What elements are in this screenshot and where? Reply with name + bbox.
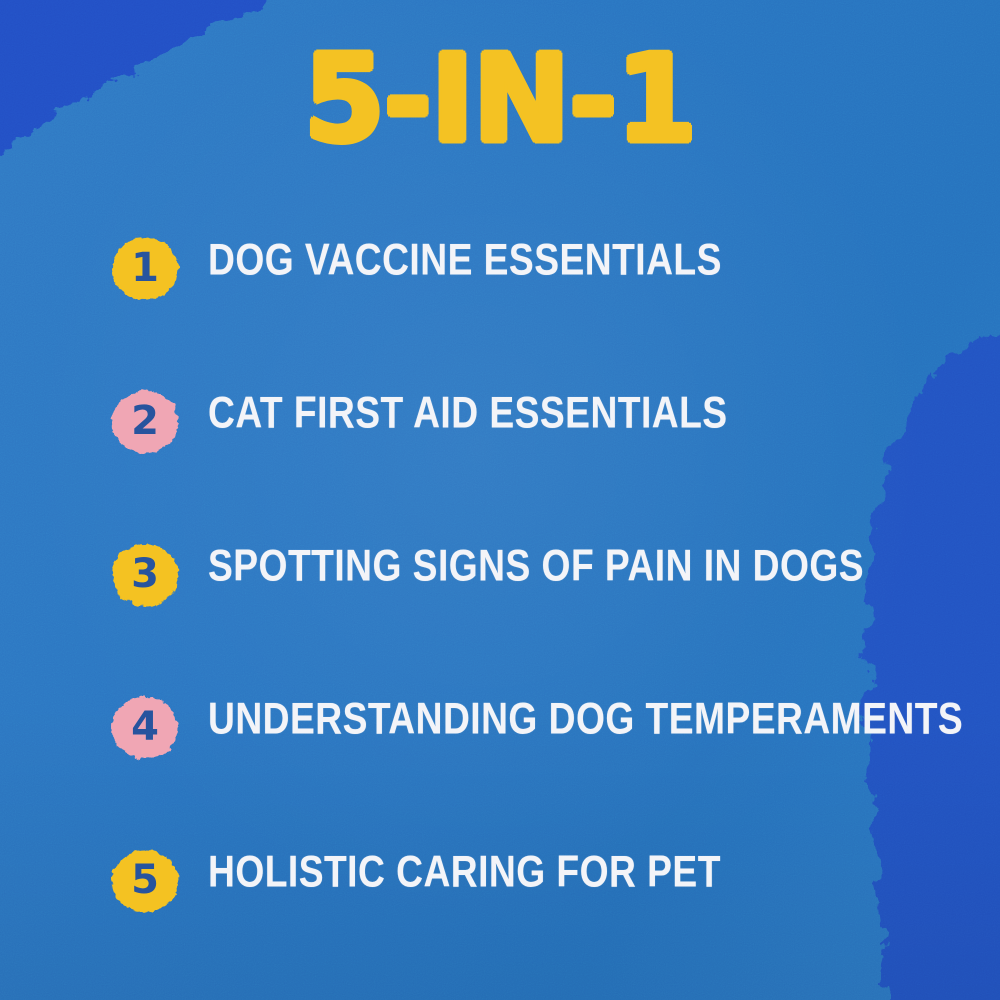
number-badge-5: 5	[108, 844, 182, 918]
number-badge-2: 2	[108, 385, 182, 459]
poster-title-area: 5-IN-1	[0, 42, 1000, 158]
poster-title: 5-IN-1	[304, 40, 696, 161]
list-item-label: CAT FIRST AID ESSENTIALS	[208, 389, 945, 437]
list-item[interactable]: 2 CAT FIRST AID ESSENTIALS	[0, 385, 1000, 538]
list-item[interactable]: 4 UNDERSTANDING DOG TEMPERAMENTS	[0, 691, 1000, 844]
list-item[interactable]: 5 HOLISTIC CARING FOR PET	[0, 844, 1000, 997]
badge-number: 3	[131, 554, 159, 594]
list-item-label: HOLISTIC CARING FOR PET	[208, 848, 945, 896]
list-item-label: DOG VACCINE ESSENTIALS	[208, 236, 945, 284]
badge-number: 2	[131, 401, 159, 441]
list-item-label: SPOTTING SIGNS OF PAIN IN DOGS	[208, 542, 945, 590]
list-item[interactable]: 1 DOG VACCINE ESSENTIALS	[0, 232, 1000, 385]
badge-number: 4	[131, 707, 159, 747]
poster-canvas: 5-IN-1 1 DOG VACCINE ESSENTIALS	[0, 0, 1000, 1000]
badge-number: 1	[131, 248, 159, 288]
number-badge-4: 4	[108, 691, 182, 765]
number-badge-3: 3	[108, 538, 182, 612]
numbered-topic-list: 1 DOG VACCINE ESSENTIALS 2 CAT FIRST AI	[0, 232, 1000, 997]
list-item-label: UNDERSTANDING DOG TEMPERAMENTS	[208, 695, 963, 743]
list-item[interactable]: 3 SPOTTING SIGNS OF PAIN IN DOGS	[0, 538, 1000, 691]
number-badge-1: 1	[108, 232, 182, 306]
badge-number: 5	[131, 860, 159, 900]
